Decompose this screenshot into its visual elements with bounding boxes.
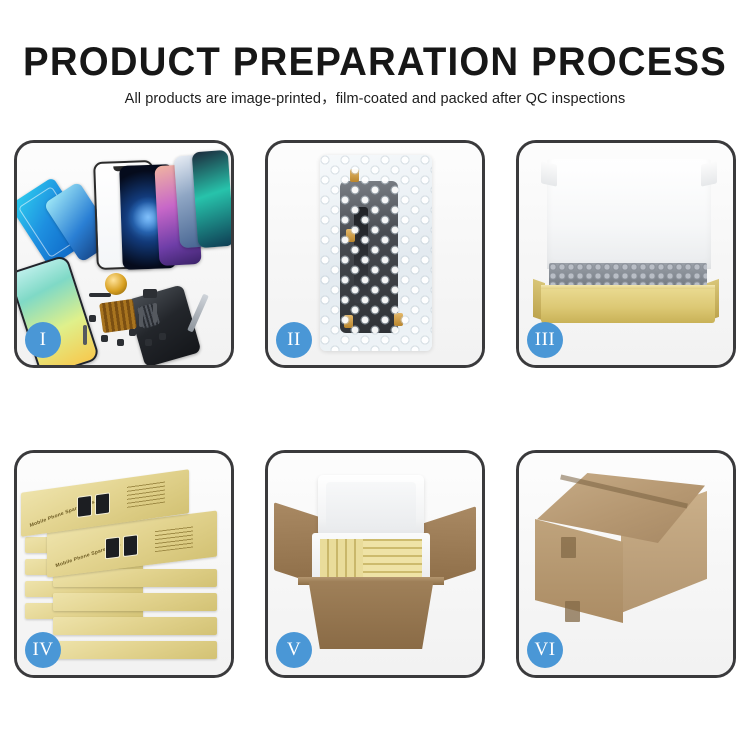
process-step-panel-2[interactable]: II [265, 140, 485, 368]
flex-cable-part [139, 307, 143, 327]
spare-part [117, 339, 124, 346]
carton-tape-upper [561, 537, 576, 558]
carton-front-face [300, 581, 442, 649]
process-step-panel-5[interactable]: V [265, 450, 485, 678]
process-step-panel-6[interactable]: VI [516, 450, 736, 678]
bubble-texture-highlight [320, 155, 432, 351]
step-badge-6: VI [527, 632, 563, 668]
bubble-wrap-bag [320, 155, 432, 351]
spare-part [101, 335, 108, 342]
stacked-box [53, 617, 217, 635]
step-badge-4: IV [25, 632, 61, 668]
spare-part [145, 339, 152, 346]
step-badge-3: III [527, 322, 563, 358]
teal-phone [192, 150, 234, 248]
spare-part [143, 289, 157, 298]
foam-cooler-lid [318, 475, 424, 537]
process-step-panel-3[interactable]: III [516, 140, 736, 368]
step-badge-2: II [276, 322, 312, 358]
spare-part [129, 329, 136, 336]
flex-cable-part [153, 303, 157, 323]
stacked-box [53, 641, 217, 659]
carton-flap-right [422, 506, 476, 588]
process-step-panel-4[interactable]: Mobile Phone Spare Parts Mobile Phone Sp… [14, 450, 234, 678]
stacked-box [53, 593, 217, 611]
carton-tape-lower [565, 601, 580, 622]
spare-part [89, 315, 96, 322]
spare-part [159, 333, 166, 340]
flex-cable-part [83, 325, 87, 345]
foam-lid [547, 159, 711, 269]
step-badge-5: V [276, 632, 312, 668]
kraft-boxes-inside [320, 539, 422, 579]
gold-coil-part [105, 273, 127, 295]
process-step-panel-1[interactable]: I [14, 140, 234, 368]
box-label-screens [105, 534, 138, 559]
box-label-lines [155, 526, 193, 553]
kraft-inner-box [541, 289, 715, 323]
process-panel-grid: I II III [0, 0, 750, 750]
step-badge-1: I [25, 322, 61, 358]
spare-part [89, 293, 111, 297]
